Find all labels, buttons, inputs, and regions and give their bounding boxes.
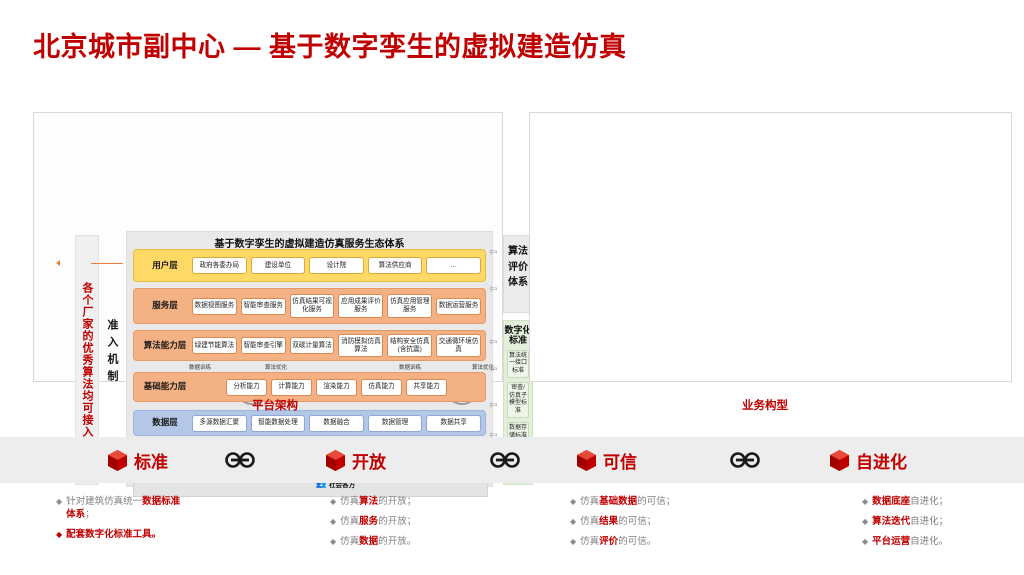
layer-service-cell[interactable]: 仿真结果可视化服务 (290, 294, 335, 317)
entry-connector-line (91, 263, 123, 264)
left-rail-entry-mechanism: 准入机制 (102, 278, 122, 428)
layer-data-cell[interactable]: 智能数据处理 (251, 415, 306, 432)
feature-bullet-text: 仿真评价的可信。 (580, 536, 656, 549)
layer-service-cell[interactable]: 数据视图服务 (192, 298, 237, 315)
diamond-bullet-icon: ◆ (862, 516, 868, 528)
standard-item[interactable]: 审查/仿真子模型标准 (507, 382, 529, 418)
layer-algorithm-cell[interactable]: 双碳计量算法 (290, 337, 335, 354)
cube-icon (830, 450, 849, 471)
std-arrow-icon: ⇦ (489, 365, 497, 375)
chain-link-icon-2 (727, 452, 763, 468)
diamond-bullet-icon: ◆ (56, 529, 62, 541)
diamond-bullet-icon: ◆ (570, 536, 576, 548)
layer-algorithm-cell[interactable]: 绿建节能算法 (192, 337, 237, 354)
layer-user: 用户层 政府各委办局 建设单位 设计院 算法供应商 … (133, 249, 486, 282)
feature-bullet: ◆仿真数据的开放。 (330, 536, 416, 549)
caption-business-model: 业务构型 (665, 397, 865, 413)
diamond-bullet-icon: ◆ (330, 536, 336, 548)
layer-data-cell[interactable]: 多源数据汇聚 (192, 415, 247, 432)
feature-bullet-text: 算法迭代自进化； (872, 516, 948, 529)
layer-data-cell[interactable]: 数据管理 (368, 415, 423, 432)
layer-algorithm-cell[interactable]: 智能审查引擎 (241, 337, 286, 354)
platform-architecture-panel: 各个厂家的优秀算法均可接入 准入机制 基于数字孪生的虚拟建造仿真服务生态体系 用… (33, 112, 503, 382)
chain-link-icon-0 (222, 452, 258, 468)
feature-bullets-2: ◆仿真基础数据的可信；◆仿真结果的可信；◆仿真评价的可信。 (570, 496, 675, 555)
architecture-title: 基于数字孪生的虚拟建造仿真服务生态体系 (127, 235, 492, 250)
layer-base-cell[interactable]: 计算能力 (271, 379, 312, 396)
layer-service: 服务层 数据视图服务 智能审查服务 仿真结果可视化服务 应用成果评价服务 仿真应… (133, 288, 486, 324)
cycle-label: 数据训练 (399, 363, 421, 371)
layer-user-cell[interactable]: 政府各委办局 (192, 257, 247, 274)
cube-icon (326, 450, 345, 471)
cycle-label: 数据训练 (189, 363, 211, 371)
layer-algorithm-cell[interactable]: 交通微环境仿真 (436, 334, 481, 357)
feature-head-2: 可信 (577, 448, 637, 473)
feature-label: 自进化 (856, 448, 907, 473)
caption-platform-architecture: 平台架构 (175, 397, 375, 413)
layer-data: 数据层 多源数据汇聚 智能数据处理 数据融合 数据管理 数据共享 (133, 410, 486, 436)
diamond-bullet-icon: ◆ (862, 536, 868, 548)
layer-algorithm-capability: 算法能力层 绿建节能算法 智能审查引擎 双碳计量算法 消防模拟仿真算法 结构安全… (133, 330, 486, 361)
layer-base-cell[interactable]: 共享能力 (406, 379, 447, 396)
layer-base-cell[interactable]: 分析能力 (226, 379, 267, 396)
eval-arrow-icon: ⇦ (489, 248, 497, 258)
diamond-bullet-icon: ◆ (330, 516, 336, 528)
feature-bullet: ◆仿真评价的可信。 (570, 536, 675, 549)
feature-bullet-text: 数据底座自进化； (872, 496, 948, 509)
diamond-bullet-icon: ◆ (570, 496, 576, 508)
layer-algorithm-name: 算法能力层 (138, 341, 192, 350)
feature-label: 标准 (134, 448, 168, 473)
feature-bullet-text: 配套数字化标准工具。 (66, 529, 161, 542)
layer-data-name: 数据层 (138, 418, 192, 427)
layer-service-cell[interactable]: 数据运营服务 (436, 298, 481, 315)
page-title: 北京城市副中心 — 基于数字孪生的虚拟建造仿真 (33, 25, 627, 64)
layer-data-cell[interactable]: 数据共享 (426, 415, 481, 432)
feature-head-3: 自进化 (830, 448, 907, 473)
layer-base-cell[interactable]: 仿真能力 (361, 379, 402, 396)
feature-bullets-1: ◆仿真算法的开放；◆仿真服务的开放；◆仿真数据的开放。 (330, 496, 416, 555)
feature-bullet: ◆仿真基础数据的可信； (570, 496, 675, 509)
eval-arrow-icon: ⇦ (489, 285, 497, 295)
feature-label: 开放 (352, 448, 386, 473)
diamond-bullet-icon: ◆ (862, 496, 868, 508)
diamond-bullet-icon: ◆ (56, 496, 62, 508)
layer-service-cell[interactable]: 应用成果评价服务 (338, 294, 383, 317)
feature-bullet: ◆仿真算法的开放； (330, 496, 416, 509)
layer-algorithm-cell[interactable]: 消防模拟仿真算法 (338, 334, 383, 357)
feature-bullet: ◆数据底座自进化； (862, 496, 948, 509)
feature-bullet-text: 仿真数据的开放。 (340, 536, 416, 549)
layer-service-cell[interactable]: 智能审查服务 (241, 298, 286, 315)
cube-icon (577, 450, 596, 471)
layer-service-cell[interactable]: 仿真应用管理服务 (387, 294, 432, 317)
slide-root: 北京城市副中心 — 基于数字孪生的虚拟建造仿真 各个厂家的优秀算法均可接入 准入… (0, 0, 1024, 575)
diamond-bullet-icon: ◆ (330, 496, 336, 508)
std-arrow-icon: ⇦ (489, 401, 497, 411)
feature-label: 可信 (603, 448, 637, 473)
feature-bullet: ◆算法迭代自进化； (862, 516, 948, 529)
feature-bullet-text: 仿真结果的可信； (580, 516, 656, 529)
layer-user-cell[interactable]: 算法供应商 (368, 257, 423, 274)
feature-bullet: ◆仿真服务的开放； (330, 516, 416, 529)
std-arrow-icon: ⇦ (489, 338, 497, 348)
feature-bullets-0: ◆针对建筑仿真统一数据标准体系；◆配套数字化标准工具。 (56, 496, 184, 548)
feature-bullet: ◆仿真结果的可信； (570, 516, 675, 529)
feature-bullet: ◆配套数字化标准工具。 (56, 529, 184, 542)
layer-user-cell[interactable]: … (426, 257, 481, 274)
layer-user-cell[interactable]: 设计院 (309, 257, 364, 274)
layer-user-name: 用户层 (138, 261, 192, 270)
feature-bullet-text: 仿真基础数据的可信； (580, 496, 675, 509)
layer-service-name: 服务层 (138, 301, 192, 310)
feature-bullet-text: 平台运营自进化。 (872, 536, 948, 549)
standard-item[interactable]: 算法统一接口标准 (507, 350, 529, 379)
layer-user-cell[interactable]: 建设单位 (251, 257, 306, 274)
feature-bullets-3: ◆数据底座自进化；◆算法迭代自进化；◆平台运营自进化。 (862, 496, 948, 555)
layer-data-cell[interactable]: 数据融合 (309, 415, 364, 432)
digital-standard-title: 数字化标准 (504, 325, 532, 346)
diamond-bullet-icon: ◆ (570, 516, 576, 528)
cycle-label: 算法优化 (265, 363, 287, 371)
feature-bullet-text: 仿真算法的开放； (340, 496, 416, 509)
feature-bullet-text: 针对建筑仿真统一数据标准体系； (66, 496, 184, 522)
chain-link-icon-1 (487, 452, 523, 468)
layer-base-cell[interactable]: 渲染能力 (316, 379, 357, 396)
cube-icon (108, 450, 127, 471)
layer-base-name: 基础能力层 (138, 382, 192, 391)
feature-bullet: ◆针对建筑仿真统一数据标准体系； (56, 496, 184, 522)
layer-algorithm-cell[interactable]: 结构安全仿真(含抗震) (387, 334, 432, 357)
feature-head-1: 开放 (326, 448, 386, 473)
entry-connector-arrow (56, 260, 60, 266)
feature-bullet: ◆平台运营自进化。 (862, 536, 948, 549)
feature-bullet-text: 仿真服务的开放； (340, 516, 416, 529)
feature-head-0: 标准 (108, 448, 168, 473)
business-model-panel: 提出具象面向仿真结果的具体设计需求 按服务付费 按项目付费 设计师 建设管理方 … (529, 112, 1012, 382)
